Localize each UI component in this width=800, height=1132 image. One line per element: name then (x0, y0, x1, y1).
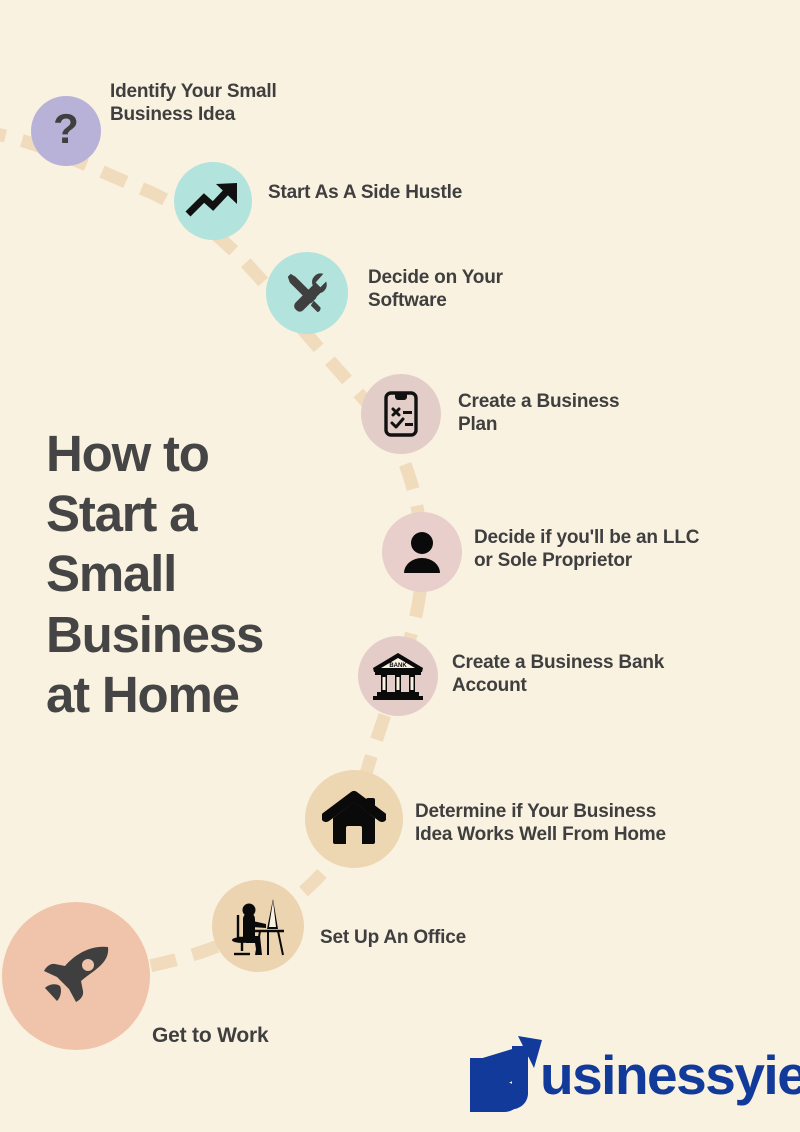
brand-wordmark: usinessyield (540, 1048, 800, 1103)
step-6-label: Create a Business Bank Account (452, 651, 752, 697)
step-4-circle (361, 374, 441, 454)
step-8-circle (212, 880, 304, 972)
step-9-circle (2, 902, 150, 1050)
person-avatar-icon (401, 530, 443, 574)
person-at-desk-icon (226, 893, 290, 959)
step-2-circle (174, 162, 252, 240)
bank-icon-text: BANK (389, 663, 407, 669)
tools-wrench-screwdriver-icon (284, 270, 330, 316)
step-1-circle: ? (31, 96, 101, 166)
clipboard-checklist-icon (382, 390, 420, 438)
bank-building-icon: BANK (370, 651, 426, 701)
step-4-label: Create a Business Plan (458, 390, 718, 436)
step-3-label: Decide on Your Software (368, 266, 618, 312)
rocket-launch-icon (38, 943, 114, 1009)
step-9-label: Get to Work (152, 1023, 352, 1049)
step-1-label: Identify Your Small Business Idea (110, 80, 360, 126)
step-5-circle (382, 512, 462, 592)
step-2-label: Start As A Side Hustle (268, 181, 558, 204)
home-house-icon (322, 790, 386, 848)
trending-up-arrow-icon (185, 180, 241, 222)
brand-logo[interactable]: usinessyield (462, 1032, 782, 1118)
page-title: How to Start a Small Business at Home (46, 424, 356, 725)
question-mark-icon: ? (49, 109, 83, 153)
step-3-circle (266, 252, 348, 334)
step-7-circle (305, 770, 403, 868)
step-8-label: Set Up An Office (320, 926, 580, 949)
svg-text:?: ? (53, 109, 79, 152)
step-6-circle: BANK (358, 636, 438, 716)
step-5-label: Decide if you'll be an LLC or Sole Propr… (474, 526, 794, 572)
infographic-poster: How to Start a Small Business at Home ? … (0, 0, 800, 1132)
step-7-label: Determine if Your Business Idea Works We… (415, 800, 755, 846)
